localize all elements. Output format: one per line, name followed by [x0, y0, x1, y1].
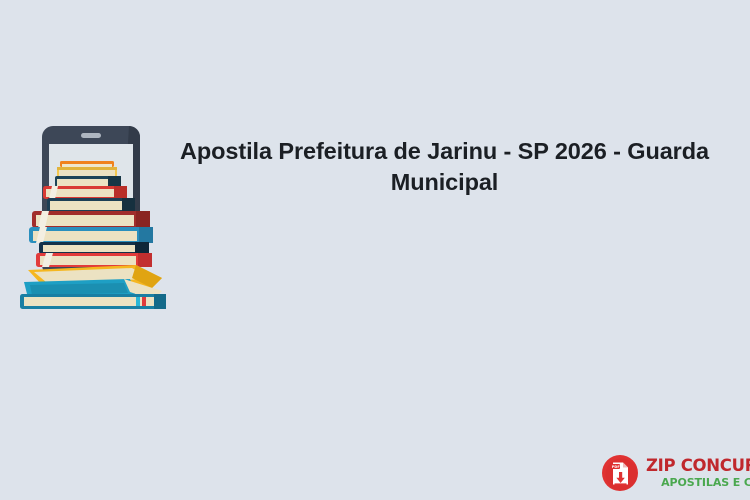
product-title-block: Apostila Prefeitura de Jarinu - SP 2026 … [172, 136, 717, 198]
pdf-download-icon: PDF [600, 453, 640, 493]
book-darkblue-upper [47, 198, 135, 212]
book-lightblue [29, 227, 153, 243]
brand-logo[interactable]: PDF ZIP CONCURSOS APOSTILAS E CURSOS [600, 450, 740, 496]
book-orange-top [60, 161, 114, 168]
book-navy-upper [55, 176, 121, 187]
brand-tagline: APOSTILAS E CURSOS [646, 477, 750, 488]
book-red-mid [36, 253, 152, 267]
book-stack-illustration [12, 122, 172, 312]
book-cream-top [57, 167, 117, 177]
promo-banner: Apostila Prefeitura de Jarinu - SP 2026 … [0, 0, 750, 500]
page-title: Apostila Prefeitura de Jarinu - SP 2026 … [172, 136, 717, 198]
book-teal-bottom [20, 294, 166, 309]
book-navy-mid [39, 242, 149, 254]
brand-logo-wordmark: ZIP CONCURSOS APOSTILAS E CURSOS [646, 458, 750, 489]
brand-name: ZIP CONCURSOS [646, 458, 750, 475]
svg-text:PDF: PDF [612, 465, 621, 469]
book-maroon [32, 211, 150, 228]
book-red-upper [43, 186, 127, 199]
